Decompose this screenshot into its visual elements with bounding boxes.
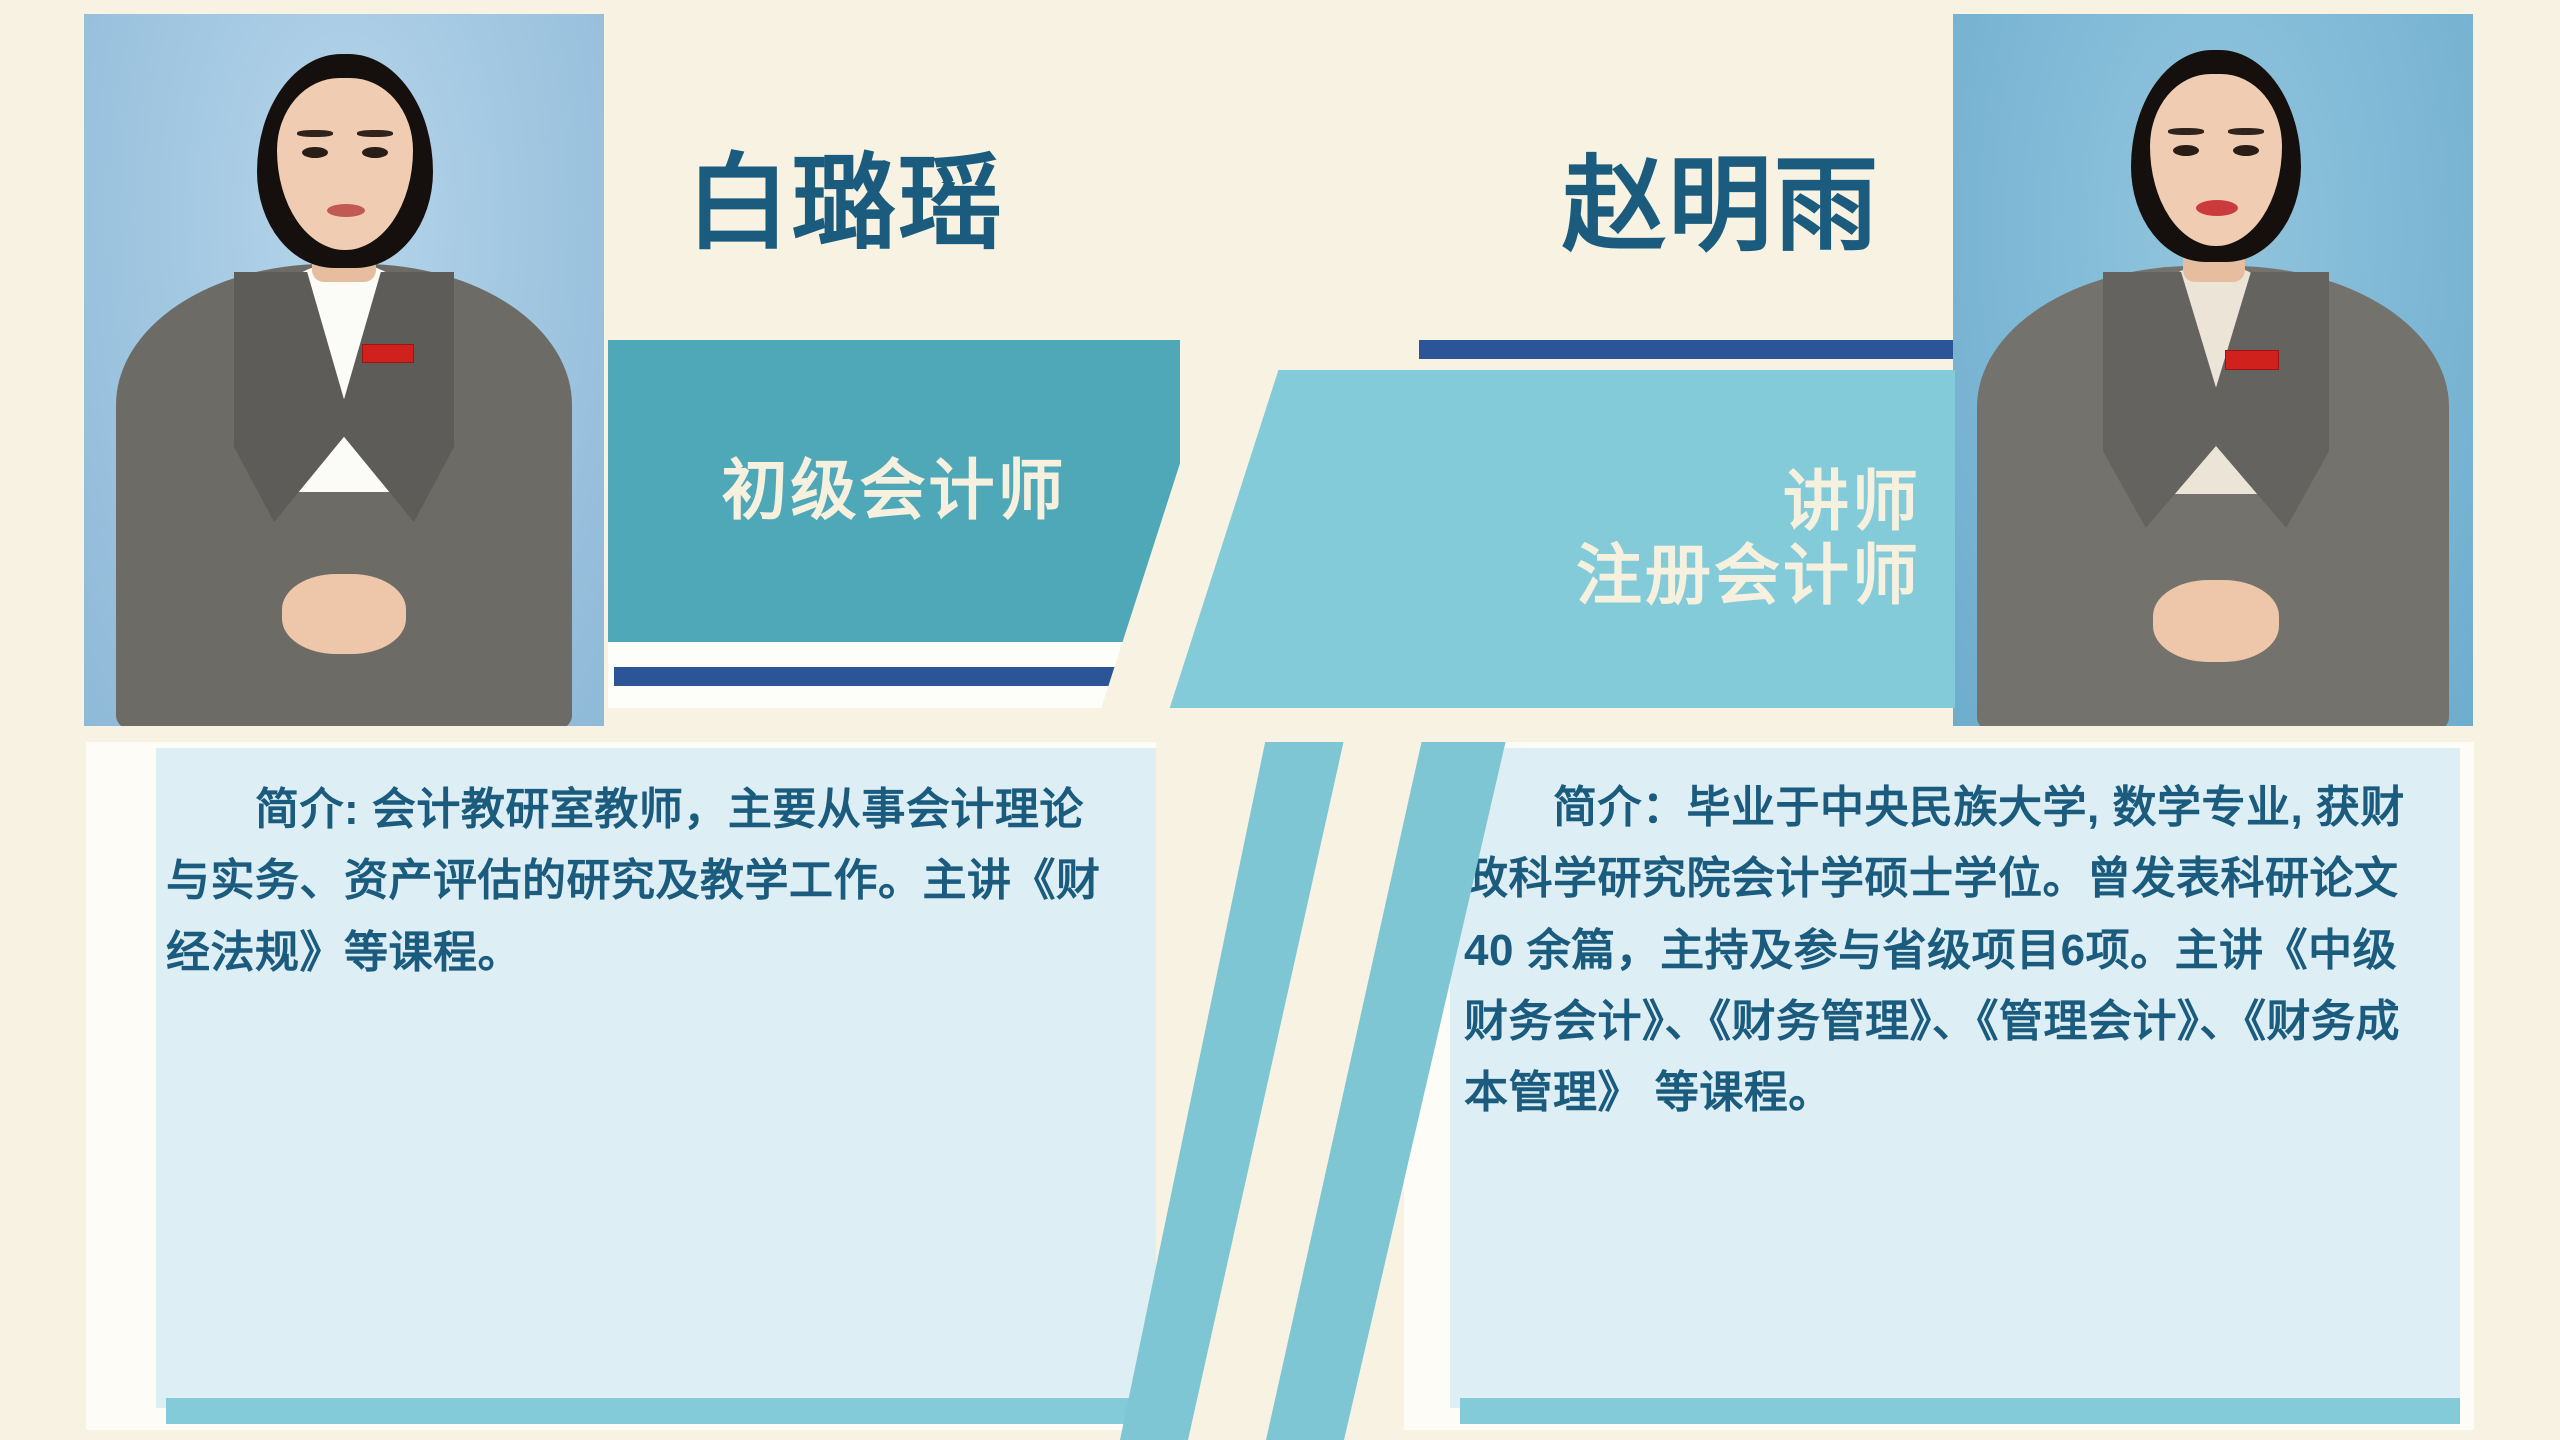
bio-box-left-footer bbox=[166, 1398, 1166, 1424]
bio-box-right-footer bbox=[1460, 1398, 2460, 1424]
portrait-photo-left bbox=[84, 14, 604, 726]
person-name-right: 赵明雨 bbox=[1562, 120, 1880, 271]
title-text-right: 讲师 注册会计师 bbox=[1576, 465, 1921, 613]
title-banner-right: 讲师 注册会计师 bbox=[1155, 370, 1955, 708]
bio-box-left: 简介: 会计教研室教师，主要从事会计理论与实务、资产评估的研究及教学工作。主讲《… bbox=[156, 748, 1156, 1408]
title-banner-left: 初级会计师 bbox=[608, 340, 1180, 642]
person-figure-right bbox=[1953, 14, 2473, 726]
bio-text-left: 简介: 会计教研室教师，主要从事会计理论与实务、资产评估的研究及教学工作。主讲《… bbox=[166, 774, 1116, 988]
title-text-left: 初级会计师 bbox=[722, 454, 1067, 528]
accent-bar-left bbox=[614, 667, 1172, 686]
person-figure-left bbox=[84, 14, 604, 726]
accent-bar-right bbox=[1419, 340, 1953, 359]
bio-box-right: 简介：毕业于中央民族大学, 数学专业, 获财政科学研究院会计学硕士学位。曾发表科… bbox=[1450, 748, 2460, 1408]
portrait-photo-right bbox=[1953, 14, 2473, 726]
person-name-left: 白璐瑶 bbox=[686, 118, 1004, 269]
poster-canvas: 白璐瑶 初级会计师 赵明雨 讲师 注册会计师 简介: 会计教研室教师，主要从事会… bbox=[0, 0, 2560, 1440]
section-separator bbox=[0, 726, 2560, 742]
bio-text-right: 简介：毕业于中央民族大学, 数学专业, 获财政科学研究院会计学硕士学位。曾发表科… bbox=[1464, 772, 2424, 1128]
